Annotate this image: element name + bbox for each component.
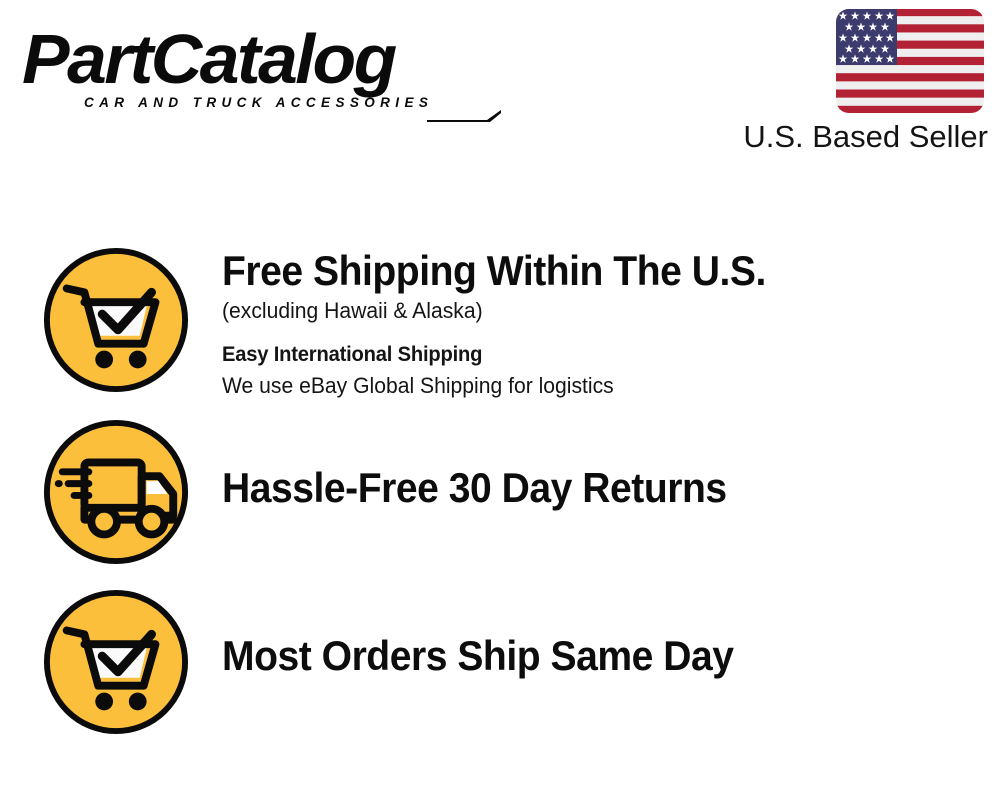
feature-row: Most Orders Ship Same Day <box>0 586 1000 738</box>
feature-text-block: Free Shipping Within The U.S. (excluding… <box>222 244 1000 401</box>
brand-wordmark: PartCatalog <box>22 24 501 94</box>
us-based-seller-badge: U.S. Based Seller <box>718 8 988 155</box>
delivery-truck-icon <box>41 416 191 568</box>
feature-title: Most Orders Ship Same Day <box>222 632 946 680</box>
cart-check-icon <box>41 244 191 396</box>
cart-check-icon <box>41 586 191 738</box>
feature-row: Hassle-Free 30 Day Returns <box>0 416 1000 568</box>
feature-text-block: Hassle-Free 30 Day Returns <box>222 416 1000 512</box>
brand-logo[interactable]: PartCatalog CAR AND TRUCK ACCESSORIES <box>22 24 492 114</box>
feature-subtitle: Easy International Shipping <box>222 340 969 370</box>
brand-tagline: CAR AND TRUCK ACCESSORIES <box>84 95 433 110</box>
feature-note: (excluding Hawaii & Alaska) <box>222 296 969 326</box>
feature-row: Free Shipping Within The U.S. (excluding… <box>0 244 1000 401</box>
feature-title: Hassle-Free 30 Day Returns <box>222 464 946 512</box>
logo-swoosh-icon <box>427 110 501 122</box>
feature-title: Free Shipping Within The U.S. <box>222 247 946 295</box>
feature-subnote: We use eBay Global Shipping for logistic… <box>222 371 969 401</box>
us-based-seller-label: U.S. Based Seller <box>718 119 988 155</box>
us-flag-icon <box>835 8 985 114</box>
feature-text-block: Most Orders Ship Same Day <box>222 586 1000 680</box>
